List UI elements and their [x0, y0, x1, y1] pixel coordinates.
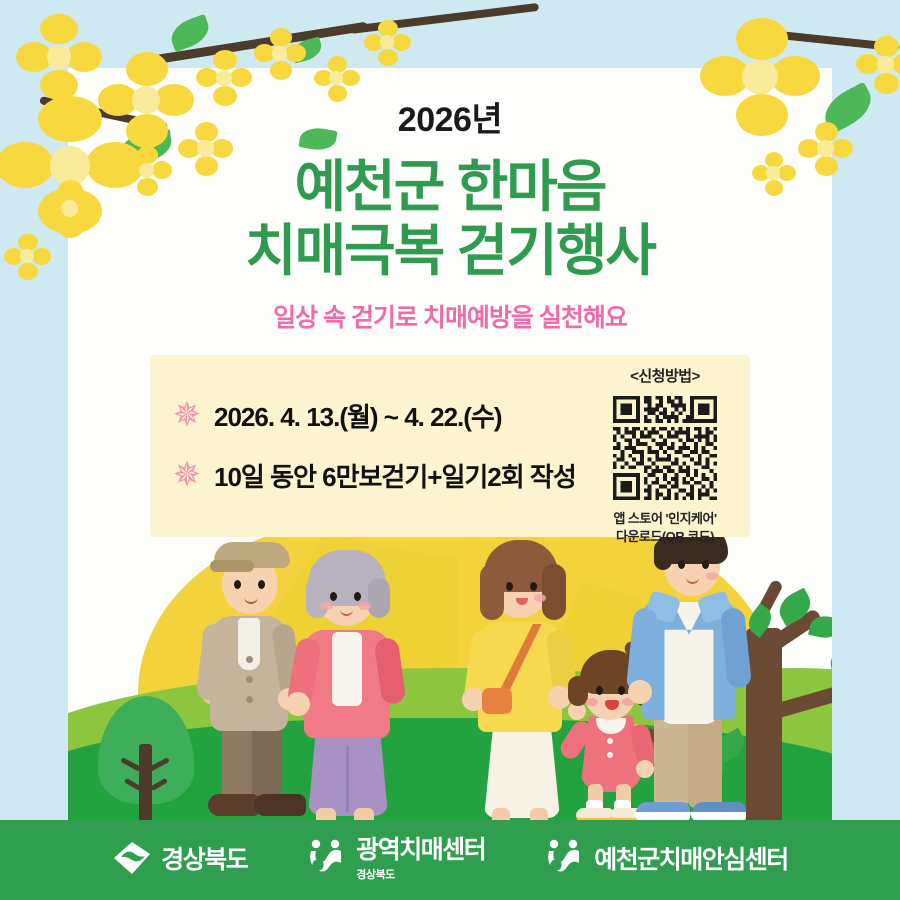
forsythia-flower: [798, 122, 854, 176]
two-figures-emblem-icon: [305, 839, 347, 882]
info-bullet-list: ✵ 2026. 4. 13.(월) ~ 4. 22.(수) ✵ 10일 동안 6…: [172, 385, 602, 505]
title-line-2: 치매극복 걷기행사: [68, 219, 832, 283]
two-figures-emblem-icon: [543, 839, 585, 882]
forsythia-flower: [856, 36, 900, 94]
forsythia-flower: [254, 28, 306, 80]
info-box: ✵ 2026. 4. 13.(월) ~ 4. 22.(수) ✵ 10일 동안 6…: [150, 355, 750, 537]
logo-label: 예천군치매안심센터: [594, 848, 788, 873]
forsythia-flower: [700, 18, 820, 136]
logo-label: 경상북도: [161, 848, 247, 873]
small-tree-icon: [98, 696, 194, 826]
star-bullet-icon: ✵: [172, 400, 202, 430]
info-mission-text: 10일 동안 6만보걷기+일기2회 작성: [214, 457, 576, 494]
info-bullet-row: ✵ 10일 동안 6만보걷기+일기2회 작성: [172, 445, 602, 505]
logo-sublabel: 경상북도: [356, 866, 485, 882]
forsythia-flower: [40, 180, 100, 238]
qr-caption: 앱 스토어 '인지케어' 다운로드(QR 코드): [590, 510, 740, 545]
forsythia-flower: [314, 56, 360, 102]
forsythia-flower: [178, 122, 234, 176]
forsythia-flower: [122, 146, 172, 196]
forsythia-flower: [4, 234, 52, 280]
star-bullet-icon: ✵: [172, 460, 202, 490]
logo-gyeongsangbukdo: 경상북도: [112, 841, 247, 880]
forsythia-flower: [196, 50, 252, 106]
wave-emblem-icon: [112, 841, 152, 880]
qr-code-icon[interactable]: [609, 392, 721, 504]
forsythia-flower: [752, 152, 796, 196]
poster-card: 2026년 예천군 한마음 치매극복 걷기행사 일상 속 걷기로 치매예방을 실…: [68, 68, 832, 832]
logo-label: 광역치매센터: [356, 838, 485, 863]
subtitle: 일상 속 걷기로 치매예방을 실천해요: [68, 298, 832, 334]
logo-gwangyeok-dementia-center: 광역치매센터 경상북도: [305, 838, 485, 882]
forsythia-flower: [364, 20, 412, 66]
qr-section: <신청방법>: [590, 365, 740, 545]
figure-elderly-woman: [286, 546, 408, 828]
qr-caption-line-2: 다운로드(QR 코드): [590, 528, 740, 546]
info-period-text: 2026. 4. 13.(월) ~ 4. 22.(수): [214, 397, 502, 434]
logo-yecheon-dementia-center: 예천군치매안심센터: [543, 839, 788, 882]
info-bullet-row: ✵ 2026. 4. 13.(월) ~ 4. 22.(수): [172, 385, 602, 445]
figure-father: [628, 520, 752, 832]
poster-root: 2026년 예천군 한마음 치매극복 걷기행사 일상 속 걷기로 치매예방을 실…: [0, 0, 900, 900]
forsythia-flower: [16, 14, 102, 100]
footer-logo-bar: 경상북도 광역치매센터 경상북도: [0, 820, 900, 900]
qr-caption-line-1: 앱 스토어 '인지케어': [590, 510, 740, 528]
qr-heading: <신청방법>: [590, 365, 740, 386]
